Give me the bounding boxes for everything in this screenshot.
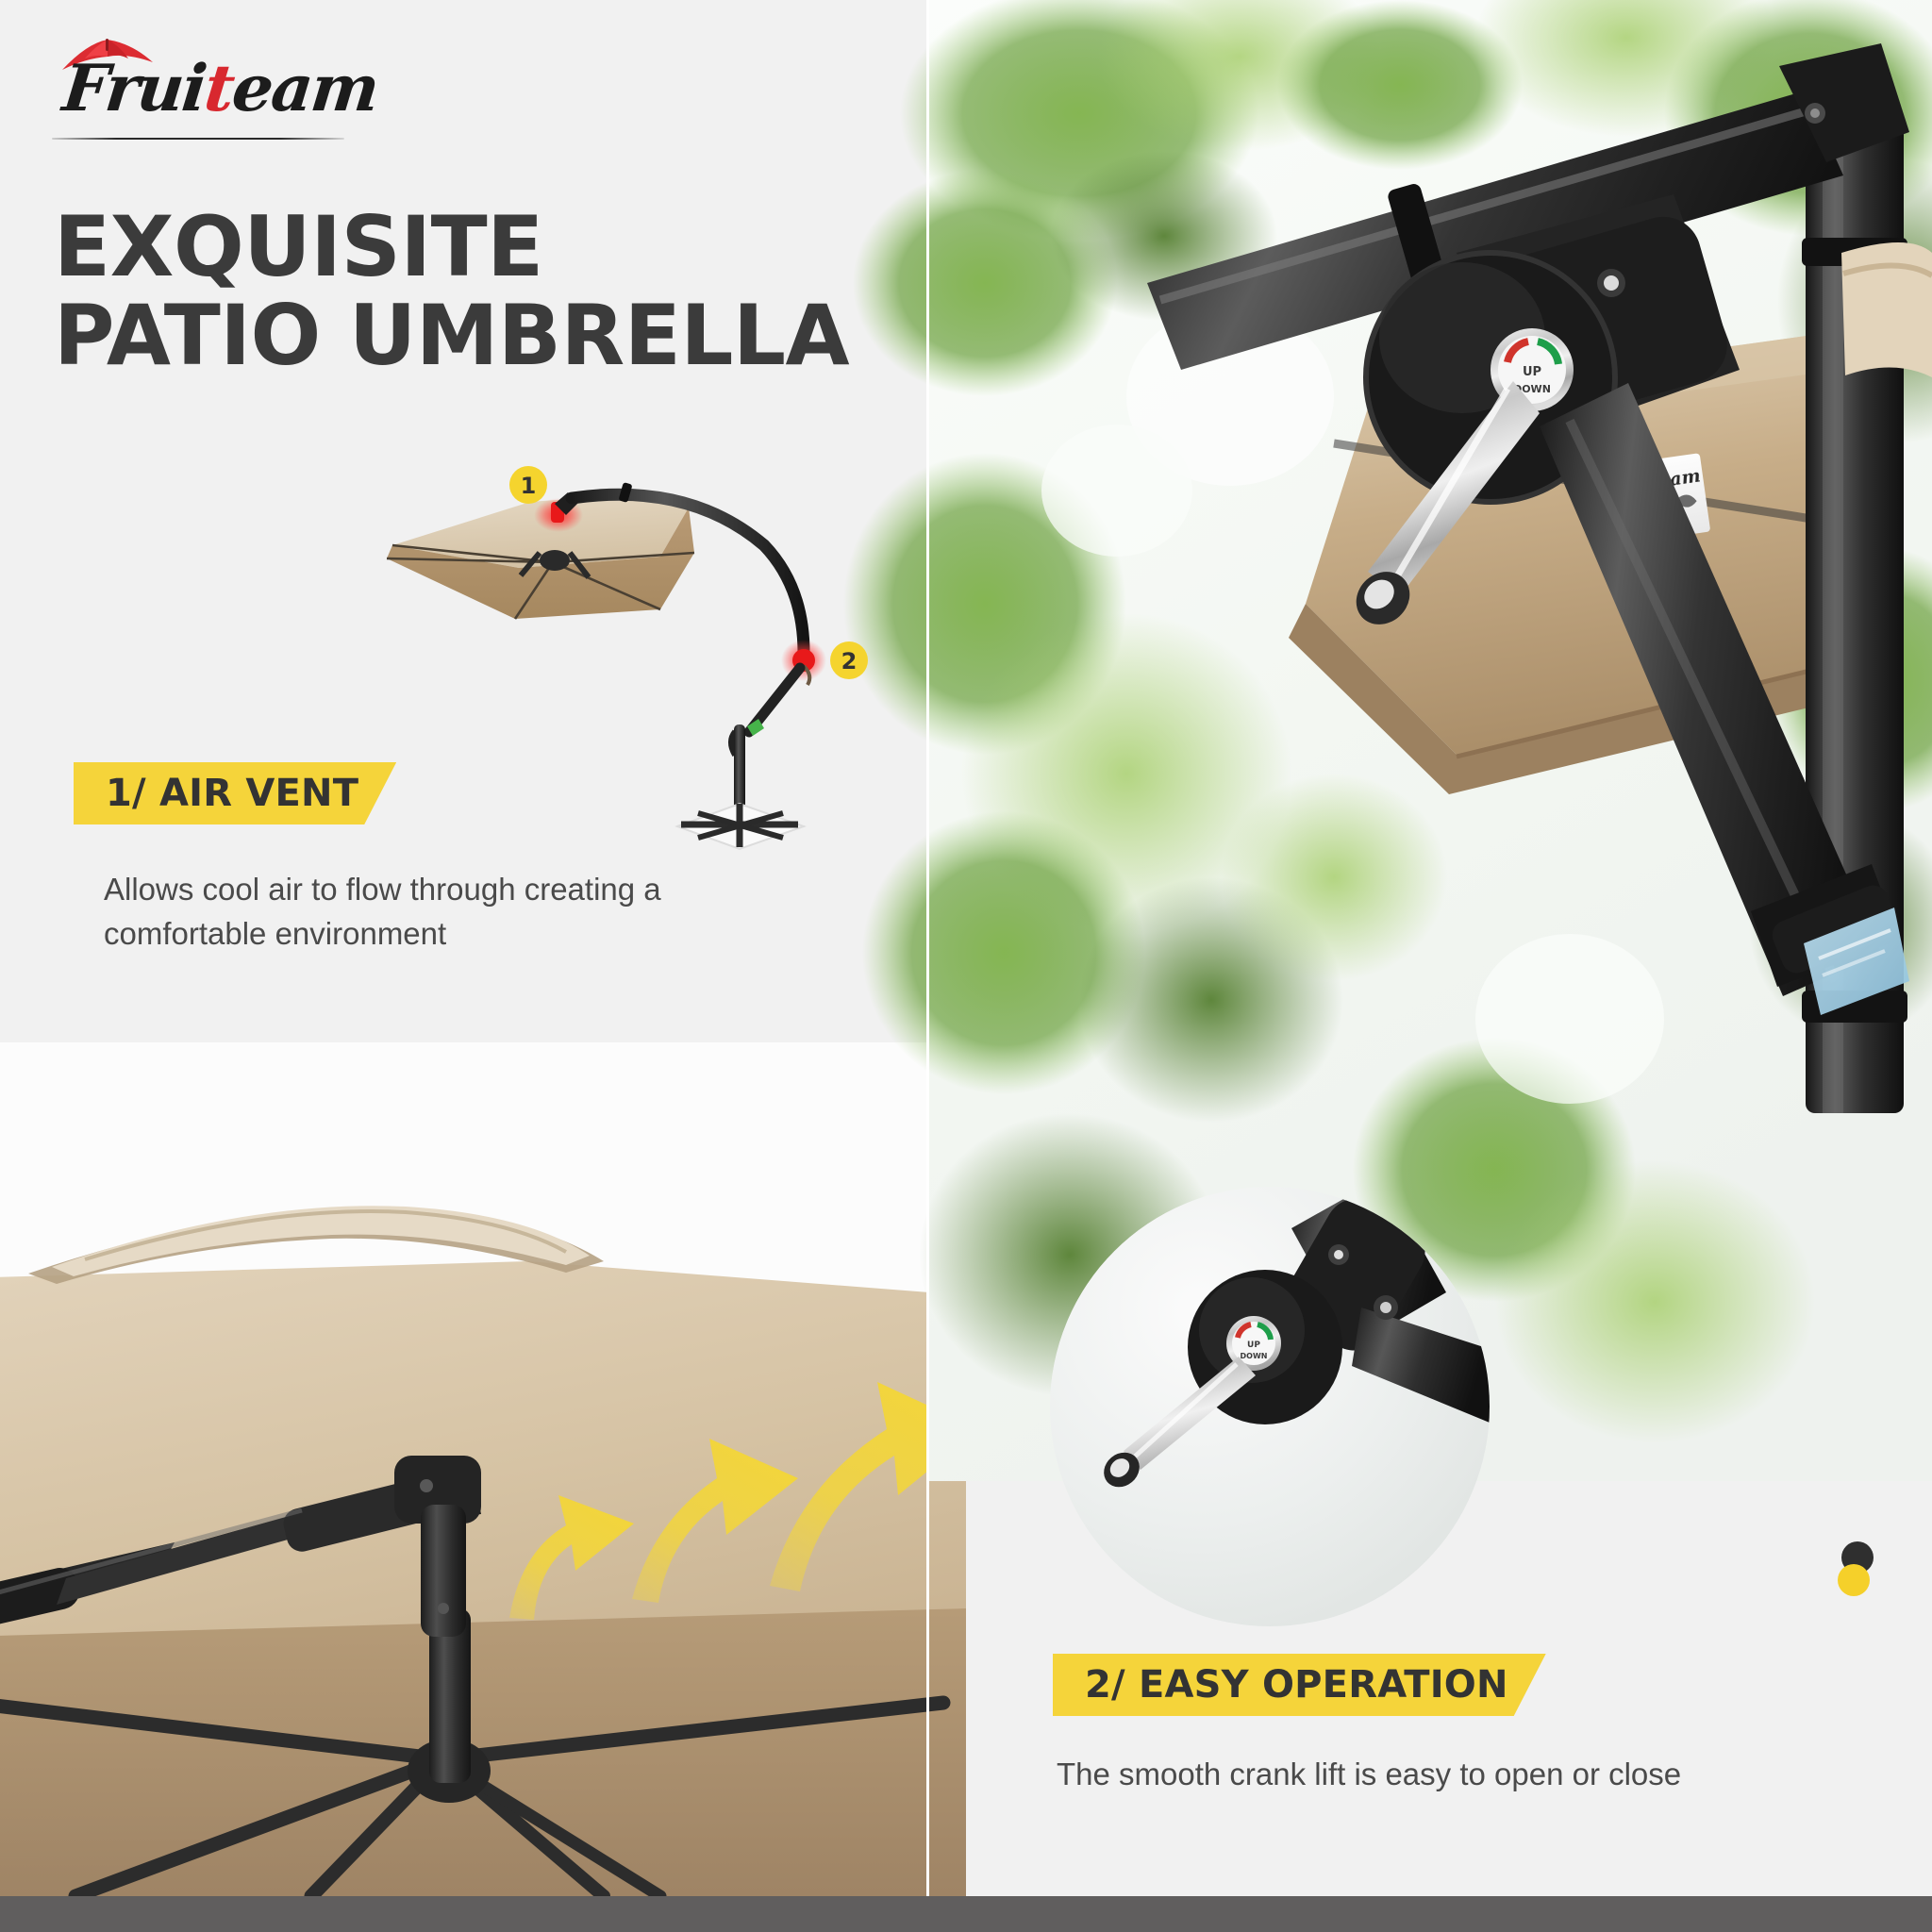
dot-yellow — [1838, 1564, 1870, 1596]
brand-part-1: Frui — [59, 51, 209, 126]
page-title: EXQUISITE PATIO UMBRELLA — [54, 203, 884, 380]
product-infographic: Fruiteam — [0, 0, 1932, 1932]
logo-underline — [52, 138, 344, 140]
diagram-marker-1: 1 — [509, 466, 547, 504]
inset-up-label: UP — [1247, 1341, 1260, 1350]
marker-1-number: 1 — [521, 473, 537, 499]
diagram-cross-base — [677, 804, 804, 849]
decorative-dots — [1834, 1541, 1890, 1617]
marker-2-number: 2 — [841, 648, 858, 675]
crank-detail-inset: UP DOWN — [1050, 1187, 1490, 1626]
footer-bar — [0, 1896, 1932, 1932]
brand-part-2: eam — [228, 51, 381, 126]
brand-logo: Fruiteam — [52, 42, 363, 145]
feature-1-label: 1/ AIR VENT — [106, 772, 358, 815]
headline-line-1: EXQUISITE — [54, 198, 543, 295]
feature-badge-air-vent: 1/ AIR VENT — [74, 762, 396, 824]
pole-fabric-wrap — [1841, 242, 1932, 377]
feature-2-description: The smooth crank lift is easy to open or… — [1057, 1753, 1906, 1797]
feature-2-label: 2/ EASY OPERATION — [1085, 1663, 1508, 1707]
vertical-divider — [926, 0, 929, 1896]
inset-down-label: DOWN — [1241, 1352, 1268, 1360]
umbrella-overview-diagram: 1 2 — [377, 443, 906, 849]
diagram-marker-2: 2 — [830, 641, 868, 679]
hub-up-label: UP — [1523, 365, 1541, 379]
air-vent-photo — [0, 1042, 928, 1896]
brand-wordmark: Fruiteam — [59, 57, 380, 121]
headline-line-2: PATIO UMBRELLA — [54, 291, 884, 380]
feature-1-description: Allows cool air to flow through creating… — [104, 868, 821, 957]
feature-badge-easy-operation: 2/ EASY OPERATION — [1053, 1654, 1546, 1716]
diagram-canopy-hub — [540, 550, 570, 571]
